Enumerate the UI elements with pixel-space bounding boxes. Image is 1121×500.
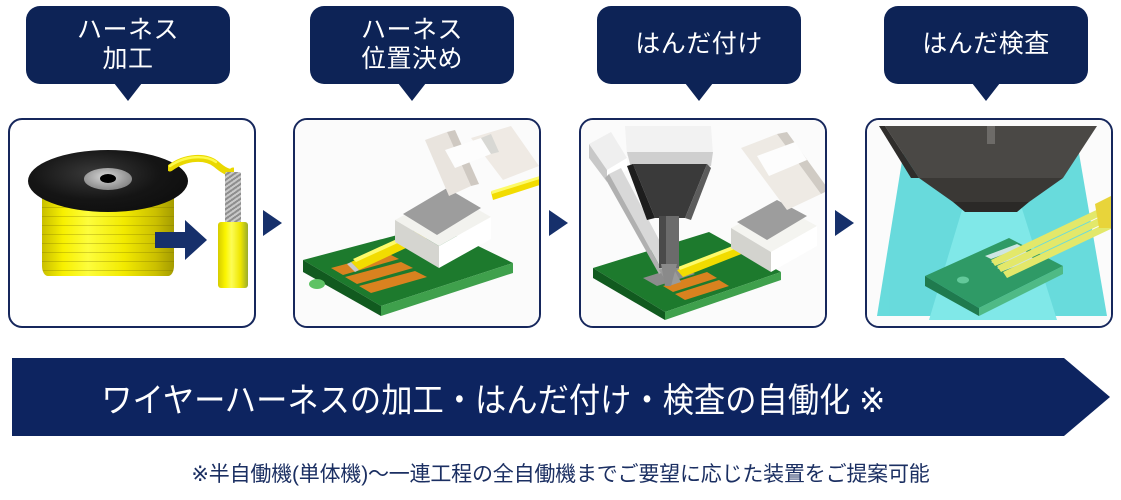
panel-solder-inspection — [865, 118, 1113, 328]
process-arrow-icon — [155, 218, 207, 262]
callout-harness-processing: ハーネス 加工 — [26, 6, 230, 84]
footnote-text: ※半自働機(単体機)〜一連工程の全自働機までご要望に応じた装置をご提案可能 — [0, 458, 1121, 488]
summary-banner-text: ワイヤーハーネスの加工・はんだ付け・検査の自働化 ※ — [12, 373, 885, 422]
callout-tail-icon — [972, 83, 1000, 101]
callout-label-line: ハーネス — [77, 16, 179, 46]
callout-label-line: 加工 — [102, 45, 153, 75]
callout-harness-positioning: ハーネス 位置決め — [310, 6, 514, 84]
wire-insulation-jacket — [218, 222, 248, 288]
panel-soldering — [579, 118, 827, 328]
flow-arrow-1 — [263, 210, 282, 236]
callout-tail-icon — [398, 83, 426, 101]
illustration-harness-positioning — [295, 120, 539, 326]
flow-arrow-3 — [835, 210, 854, 236]
callout-label-line: はんだ付け — [635, 30, 763, 60]
callout-soldering: はんだ付け — [597, 6, 801, 84]
flow-arrow-2 — [549, 210, 568, 236]
wire-conductor-strands — [225, 172, 241, 224]
spool-hub-hole — [100, 174, 116, 183]
panel-harness-positioning — [293, 118, 541, 328]
soldering-scene-svg — [581, 120, 827, 328]
callout-label-line: ハーネス — [361, 16, 463, 46]
positioning-scene-svg — [295, 120, 541, 328]
callout-tail-icon — [685, 83, 713, 101]
callout-solder-inspection: はんだ検査 — [884, 6, 1088, 84]
illustration-inspection — [867, 120, 1111, 326]
panel-harness-processing — [8, 118, 256, 328]
summary-banner: ワイヤーハーネスの加工・はんだ付け・検査の自働化 ※ — [12, 358, 1110, 436]
process-flow-infographic: ハーネス 加工 ハーネス 位置決め はんだ付け はんだ検査 — [0, 0, 1121, 500]
callout-label-line: 位置決め — [361, 45, 463, 75]
callout-tail-icon — [114, 83, 142, 101]
stripped-wire-end-graphic — [218, 172, 248, 288]
inspection-scene-svg — [867, 120, 1113, 328]
illustration-wire-spool — [10, 120, 254, 326]
illustration-soldering — [581, 120, 825, 326]
callout-label-line: はんだ検査 — [922, 30, 1050, 60]
